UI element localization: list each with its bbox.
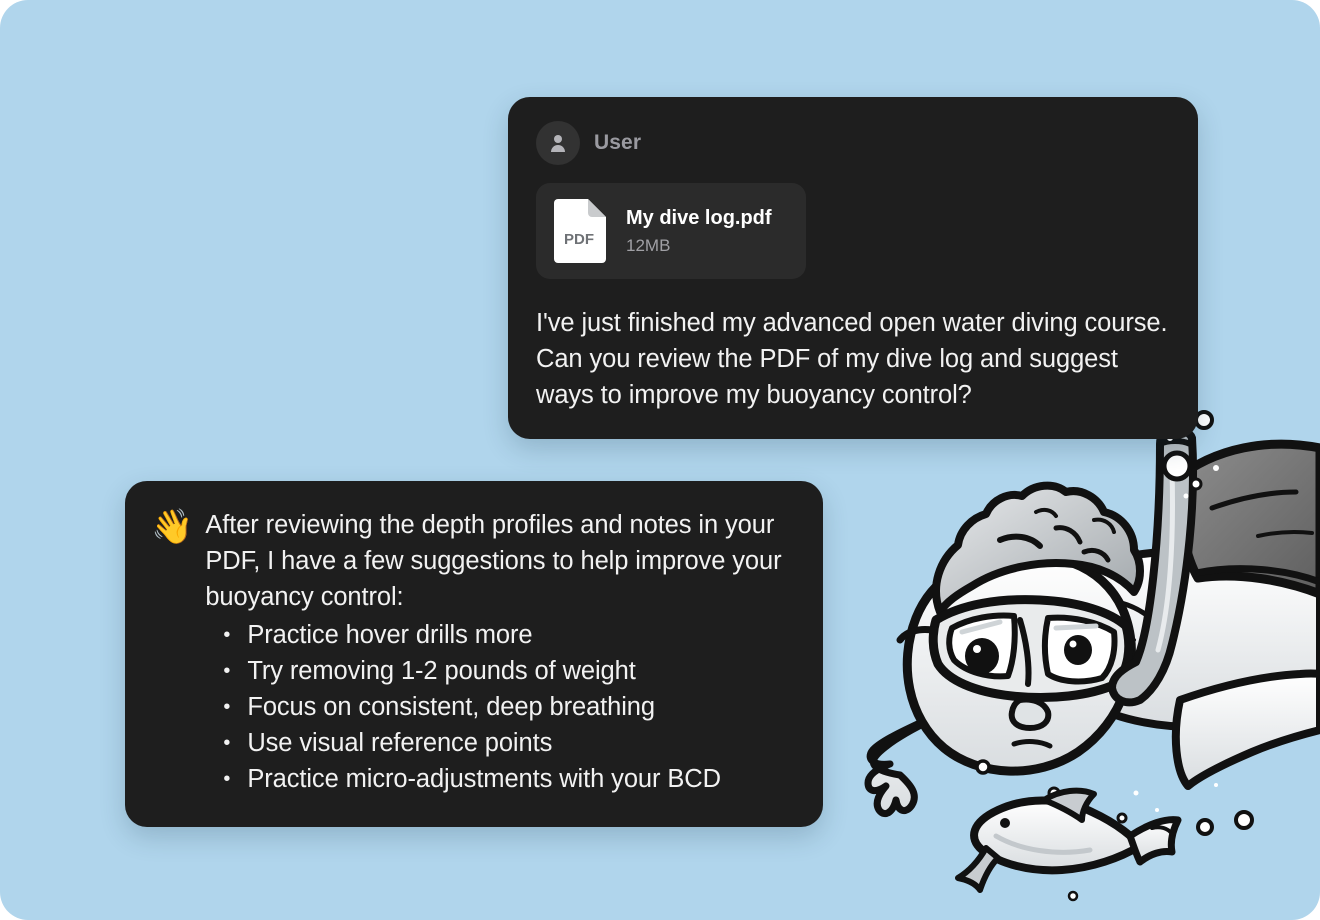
suggestion-item: Try removing 1-2 pounds of weight: [205, 653, 793, 689]
assistant-message-bubble: 👋 After reviewing the depth profiles and…: [125, 481, 823, 827]
person-icon: [536, 121, 580, 165]
screenshot-canvas: User PDF My dive log.pdf 12MB I've just …: [0, 0, 1320, 920]
pdf-attachment-card[interactable]: PDF My dive log.pdf 12MB: [536, 183, 806, 279]
user-header: User: [536, 121, 1170, 165]
attachment-file-size: 12MB: [626, 236, 772, 256]
diver-hair: [936, 486, 1140, 612]
snorkel: [1112, 430, 1193, 702]
diver-left-arm: [868, 684, 1005, 814]
suggestion-item: Use visual reference points: [205, 725, 793, 761]
diver-shorts: [1175, 444, 1320, 594]
suggestion-item: Practice hover drills more: [205, 617, 793, 653]
suggestion-item: Practice micro-adjustments with your BCD: [205, 761, 793, 797]
scatter-bubbles: [977, 761, 1252, 900]
user-message-text: I've just finished my advanced open wate…: [536, 305, 1170, 413]
waving-hand-emoji: 👋: [151, 507, 193, 545]
assistant-intro-text: After reviewing the depth profiles and n…: [205, 507, 793, 615]
fish-illustration: [958, 791, 1178, 890]
user-message-bubble: User PDF My dive log.pdf 12MB I've just …: [508, 97, 1198, 439]
diver-face-features: [1012, 700, 1050, 747]
suggestion-list: Practice hover drills moreTry removing 1…: [205, 617, 793, 797]
suggestion-item: Focus on consistent, deep breathing: [205, 689, 793, 725]
sender-label: User: [594, 131, 641, 155]
pdf-file-icon: PDF: [554, 199, 606, 263]
diver-torso: [1066, 551, 1320, 727]
diver-neck: [1031, 618, 1106, 701]
attachment-file-name: My dive log.pdf: [626, 207, 772, 230]
diver-right-arm: [1176, 674, 1320, 786]
diver-head: [907, 557, 1131, 771]
dive-mask: [900, 600, 1129, 698]
pdf-icon-label: PDF: [564, 231, 594, 248]
